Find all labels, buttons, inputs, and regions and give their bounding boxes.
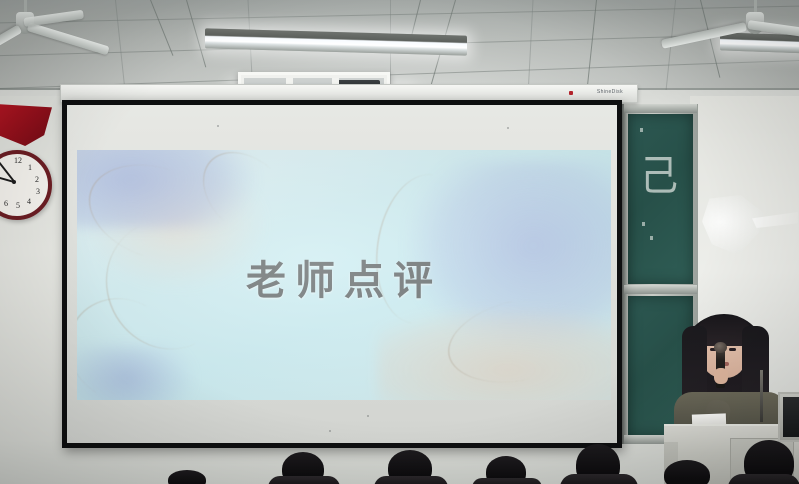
brand-logo-icon — [569, 91, 573, 95]
podium-monitor — [778, 392, 799, 442]
chalkboard-rail — [624, 285, 697, 294]
clock-numeral: 3 — [36, 187, 40, 196]
clock-center — [12, 180, 16, 184]
screen-speck — [367, 415, 369, 417]
chalk-writing: 己 — [640, 142, 678, 203]
student-shoulders — [374, 476, 448, 484]
clock-numeral: 12 — [14, 156, 22, 165]
presenter-eye — [729, 348, 736, 351]
monitor-screen — [783, 397, 799, 437]
ceiling — [0, 0, 799, 96]
slide-title: 老师点评 — [77, 248, 611, 306]
presenter — [672, 310, 792, 440]
microphone-head — [714, 342, 727, 353]
chalkboard-rail — [624, 104, 697, 113]
clock-numeral: 4 — [27, 197, 31, 206]
chalk-speck — [640, 128, 643, 132]
clock-numeral: 1 — [28, 163, 32, 172]
fluorescent-tube-light — [720, 32, 799, 53]
projected-slide: 老师点评 — [77, 150, 611, 400]
presenter-hand — [714, 368, 728, 384]
clock-numeral: 6 — [4, 199, 8, 208]
student-head — [664, 460, 710, 484]
microphone-stand — [760, 370, 763, 422]
clock-numeral: 5 — [16, 201, 20, 210]
screen-speck — [329, 430, 331, 432]
clock-numeral: 2 — [35, 175, 39, 184]
projector-screen-frame: 老师点评 — [62, 100, 622, 448]
projector-screen-surface: 老师点评 — [67, 105, 617, 443]
chalk-speck — [642, 222, 645, 226]
student-shoulders — [728, 474, 799, 484]
student-shoulders — [472, 478, 542, 484]
student-shoulders — [560, 474, 638, 484]
screen-brand-label: ShineDisk — [597, 89, 623, 95]
student-shoulders — [268, 476, 340, 484]
student-head — [168, 470, 206, 484]
screen-speck — [217, 125, 219, 127]
chalkboard-panel: 己 — [628, 114, 693, 284]
classroom-photo: 12 1 2 3 4 5 6 己 — [0, 0, 799, 484]
chalk-speck — [650, 236, 653, 240]
screen-speck — [507, 127, 509, 129]
